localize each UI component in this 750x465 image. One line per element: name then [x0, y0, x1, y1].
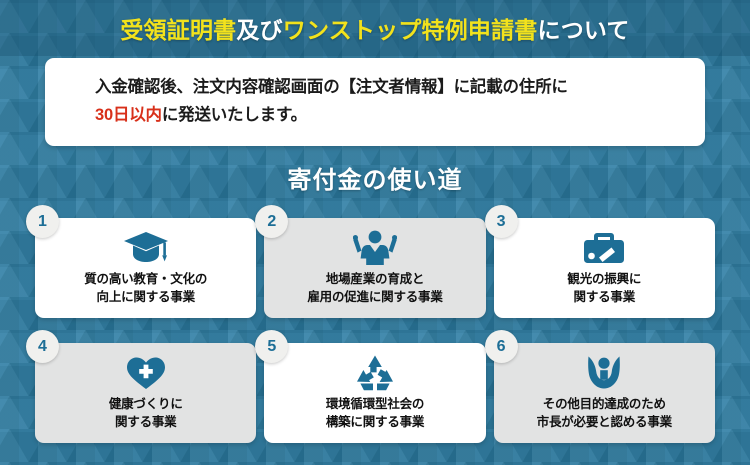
purpose-card-3[interactable]: 3 観光の振興に 関する事業 [494, 218, 715, 318]
banner-title-part-3: ワンストップ特例申請書 [283, 17, 538, 43]
donation-purposes-grid: 1 質の高い教育・文化の 向上に関する事業 2 [35, 218, 715, 443]
suitcase-icon [582, 229, 626, 267]
recycle-icon [354, 354, 396, 392]
info-card-highlight: 30日以内 [95, 106, 162, 124]
purpose-label-3-line-2: 関する事業 [574, 288, 636, 306]
purpose-label-4-line-1: 健康づくりに [109, 395, 183, 413]
info-card-line-2: 30日以内に発送いたします。 [95, 101, 705, 129]
purpose-label-6-line-2: 市長が必要と認める事業 [537, 413, 672, 431]
purpose-row-bottom: 4 健康づくりに 関する事業 5 [35, 343, 715, 443]
purpose-card-6[interactable]: 6 その他目的達成のため 市長が必要と認める事業 [494, 343, 715, 443]
info-card-line-2-rest: に発送いたします。 [162, 106, 307, 124]
banner-title-part-2: 及び [236, 17, 282, 43]
person-in-hands-icon [585, 354, 623, 392]
header-banner: 受領証明書及びワンストップ特例申請書について [0, 0, 750, 56]
graduation-cap-icon [123, 229, 169, 267]
purpose-badge-6: 6 [485, 330, 518, 363]
purpose-card-2[interactable]: 2 地場産業の育成と 雇用の促進に関する事業 [264, 218, 485, 318]
shipping-info-card: 入金確認後、注文内容確認画面の【注文者情報】に記載の住所に 30日以内に発送いた… [45, 58, 705, 146]
purpose-card-4[interactable]: 4 健康づくりに 関する事業 [35, 343, 256, 443]
purpose-badge-4: 4 [26, 330, 59, 363]
purpose-card-1[interactable]: 1 質の高い教育・文化の 向上に関する事業 [35, 218, 256, 318]
purpose-row-top: 1 質の高い教育・文化の 向上に関する事業 2 [35, 218, 715, 318]
infographic-page: 受領証明書及びワンストップ特例申請書について 入金確認後、注文内容確認画面の【注… [0, 0, 750, 465]
heart-plus-icon [125, 354, 167, 392]
purpose-label-6-line-1: その他目的達成のため [543, 395, 666, 413]
purpose-label-3-line-1: 観光の振興に [567, 270, 641, 288]
banner-title-part-4: について [538, 17, 630, 43]
purpose-badge-1: 1 [26, 205, 59, 238]
purpose-label-1-line-2: 向上に関する事業 [97, 288, 195, 306]
banner-title-part-1: 受領証明書 [120, 17, 236, 43]
purpose-label-2-line-1: 地場産業の育成と [326, 270, 424, 288]
banner-title: 受領証明書及びワンストップ特例申請書について [120, 11, 629, 45]
purpose-label-5-line-2: 構築に関する事業 [326, 413, 424, 431]
purpose-label-2-line-2: 雇用の促進に関する事業 [307, 288, 442, 306]
info-card-line-1: 入金確認後、注文内容確認画面の【注文者情報】に記載の住所に [95, 73, 705, 101]
purpose-badge-5: 5 [255, 330, 288, 363]
page-title: 寄付金の使い道 [0, 160, 750, 195]
purpose-card-5[interactable]: 5 環境循環型社会の 構築に関する事業 [264, 343, 485, 443]
purpose-label-1-line-1: 質の高い教育・文化の [84, 270, 207, 288]
purpose-badge-3: 3 [485, 205, 518, 238]
purpose-label-4-line-2: 関する事業 [115, 413, 177, 431]
person-raising-arms-icon [353, 229, 397, 267]
purpose-label-5-line-1: 環境循環型社会の [326, 395, 424, 413]
purpose-badge-2: 2 [255, 205, 288, 238]
